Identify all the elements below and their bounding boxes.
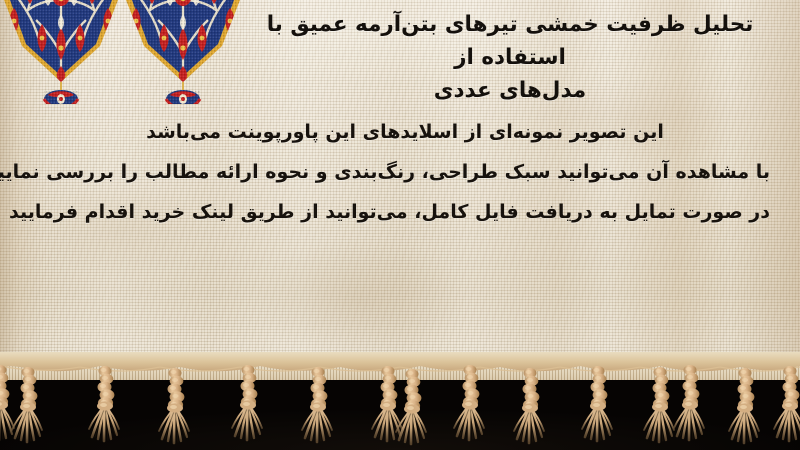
medallion-left (2, 0, 120, 108)
slide-title-line-1: تحلیل ظرفیت خمشی تیرهای بتن‌آرمه عمیق با… (267, 12, 754, 70)
slide-body-line-2: با مشاهده آن می‌توانید سبک طراحی، رنگ‌بن… (40, 152, 770, 192)
medallion-right (124, 0, 242, 108)
slide-title-line-2: مدل‌های عددی (434, 78, 586, 103)
presentation-slide: تحلیل ظرفیت خمشی تیرهای بتن‌آرمه عمیق با… (0, 0, 800, 450)
slide-body-line-1: این تصویر نمونه‌ای از اسلایدهای این پاور… (40, 112, 770, 152)
slide-body: این تصویر نمونه‌ای از اسلایدهای این پاور… (40, 112, 770, 232)
carpet-fringe (0, 352, 800, 450)
slide-title: تحلیل ظرفیت خمشی تیرهای بتن‌آرمه عمیق با… (230, 8, 790, 107)
slide-body-line-3: در صورت تمایل به دریافت فایل کامل، می‌تو… (40, 192, 770, 232)
